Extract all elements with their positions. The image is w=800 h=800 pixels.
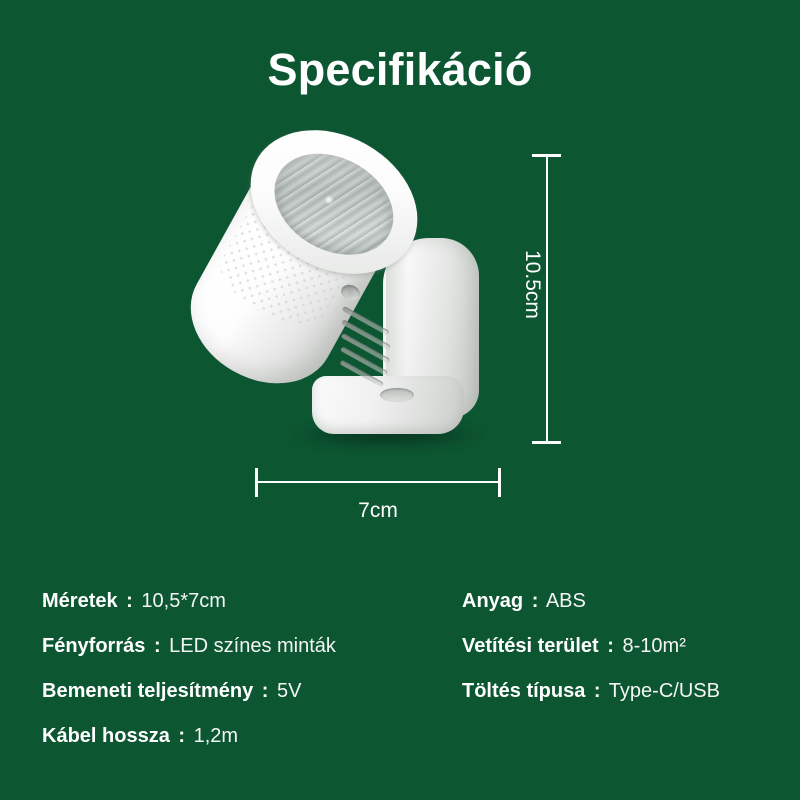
spec-row: Méretek : 10,5*7cm <box>42 586 442 631</box>
spec-row: Fényforrás : LED színes minták <box>42 631 442 676</box>
width-dimension-label: 7cm <box>255 498 501 524</box>
spec-separator: : <box>123 590 136 612</box>
specification-list: Méretek : 10,5*7cm Fényforrás : LED szín… <box>0 586 800 766</box>
spec-label: Töltés típusa <box>462 680 585 702</box>
width-dimension-tick-left <box>255 468 258 497</box>
height-dimension-tick-bottom <box>532 441 561 444</box>
spec-row: Kábel hossza : 1,2m <box>42 721 442 766</box>
spec-label: Méretek <box>42 590 118 612</box>
spec-separator: : <box>175 725 188 747</box>
spec-row: Bemeneti teljesítmény : 5V <box>42 676 442 721</box>
height-dimension-label: 10.5cm <box>520 250 544 319</box>
spec-separator: : <box>591 680 604 702</box>
width-dimension-line <box>255 481 501 483</box>
lens-highlight <box>323 194 335 206</box>
page-title: Specifikáció <box>0 44 800 96</box>
spec-label: Kábel hossza <box>42 725 170 747</box>
spec-value: Type-C/USB <box>609 680 720 702</box>
specs-left-column: Méretek : 10,5*7cm Fényforrás : LED szín… <box>42 586 442 766</box>
spec-separator: : <box>259 680 272 702</box>
spec-label: Vetítési terület <box>462 635 599 657</box>
spec-value: 10,5*7cm <box>141 590 226 612</box>
specification-page: Specifikáció 10.5cm 7cm <box>0 0 800 800</box>
spec-separator: : <box>151 635 164 657</box>
spec-label: Anyag <box>462 590 523 612</box>
spec-row: Vetítési terület : 8-10m² <box>462 631 792 676</box>
spec-value: 1,2m <box>194 725 238 747</box>
spec-row: Töltés típusa : Type-C/USB <box>462 676 792 721</box>
spec-separator: : <box>604 635 617 657</box>
spec-label: Fényforrás <box>42 635 145 657</box>
spec-label: Bemeneti teljesítmény <box>42 680 253 702</box>
specs-right-column: Anyag : ABS Vetítési terület : 8-10m² Tö… <box>462 586 792 721</box>
spec-row: Anyag : ABS <box>462 586 792 631</box>
spec-value: ABS <box>546 590 586 612</box>
spec-value: 8-10m² <box>623 635 686 657</box>
height-dimension-line <box>546 154 548 444</box>
spec-value: LED színes minták <box>169 635 336 657</box>
height-dimension-tick-top <box>532 154 561 157</box>
spec-separator: : <box>529 590 542 612</box>
spec-value: 5V <box>277 680 301 702</box>
product-image <box>240 130 530 470</box>
width-dimension-tick-right <box>498 468 501 497</box>
